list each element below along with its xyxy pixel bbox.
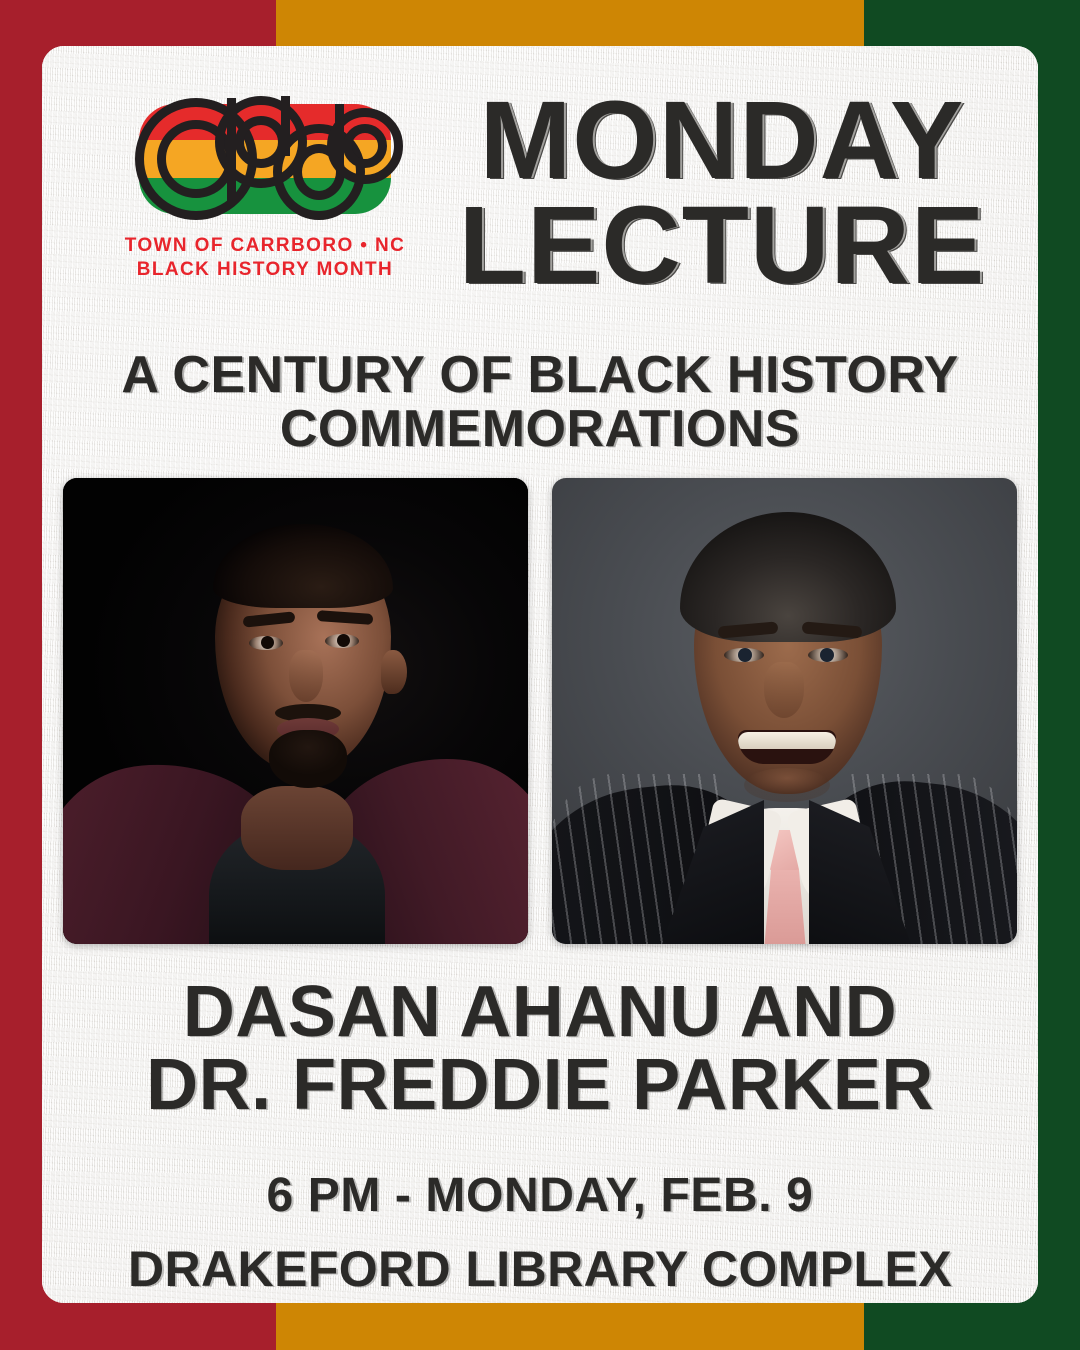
portrait-freddie-parker (552, 478, 1017, 944)
portrait-1-pupil-right (337, 634, 350, 647)
event-headline: MONDAY LECTURE (424, 90, 1020, 296)
speaker-portraits (63, 478, 1017, 944)
headline-line-2: LECTURE (424, 195, 1020, 296)
logo-stem-2 (281, 96, 290, 156)
portrait-2-nose (764, 662, 804, 718)
portrait-2-smile (738, 730, 836, 764)
subtitle-line-2: COMMEMORATIONS (280, 400, 800, 458)
portrait-1-neck (241, 786, 353, 870)
speaker-line-1: DASAN AHANU AND (72, 976, 1008, 1049)
portrait-dasan-ahanu (63, 478, 528, 944)
logo-tagline: TOWN OF CARRBORO • NC BLACK HISTORY MONT… (125, 234, 406, 283)
logo-tagline-line-1: TOWN OF CARRBORO • NC (125, 235, 406, 256)
speaker-line-2: DR. FREDDIE PARKER (72, 1049, 1008, 1122)
event-venue: DRAKEFORD LIBRARY COMPLEX (72, 1240, 1008, 1298)
portrait-1-pupil-left (261, 636, 274, 649)
subtitle-line-1: A CENTURY OF BLACK HISTORY (121, 346, 958, 404)
portrait-1-nose (289, 650, 323, 702)
portrait-2-teeth (738, 732, 836, 749)
logo-ring-o-inner (343, 124, 387, 168)
event-time: 6 PM - MONDAY, FEB. 9 (72, 1168, 1008, 1224)
logo-tagline-line-2: BLACK HISTORY MONTH (137, 259, 393, 280)
card-content: TOWN OF CARRBORO • NC BLACK HISTORY MONT… (42, 46, 1038, 1303)
logo-stem-1 (227, 98, 236, 202)
event-details: 6 PM - MONDAY, FEB. 9 DRAKEFORD LIBRARY … (72, 1168, 1008, 1298)
portrait-2-pupil-right (820, 648, 834, 662)
carrboro-bhm-logo: TOWN OF CARRBORO • NC BLACK HISTORY MONT… (120, 94, 410, 283)
portrait-1-goatee (269, 730, 347, 788)
paper-card: TOWN OF CARRBORO • NC BLACK HISTORY MONT… (42, 46, 1038, 1303)
event-subtitle: A CENTURY OF BLACK HISTORY COMMEMORATION… (82, 348, 998, 456)
logo-letterforms (131, 94, 399, 224)
logo-stem-3 (335, 104, 344, 166)
speaker-names: DASAN AHANU AND DR. FREDDIE PARKER (72, 976, 1008, 1123)
headline-line-1: MONDAY (424, 90, 1020, 191)
portrait-2-chin (744, 768, 830, 802)
event-poster: TOWN OF CARRBORO • NC BLACK HISTORY MONT… (0, 0, 1080, 1350)
carrboro-wordmark-icon (131, 94, 399, 224)
poster-header: TOWN OF CARRBORO • NC BLACK HISTORY MONT… (42, 46, 1038, 326)
portrait-2-pupil-left (738, 648, 752, 662)
portrait-1-ear (381, 650, 407, 694)
